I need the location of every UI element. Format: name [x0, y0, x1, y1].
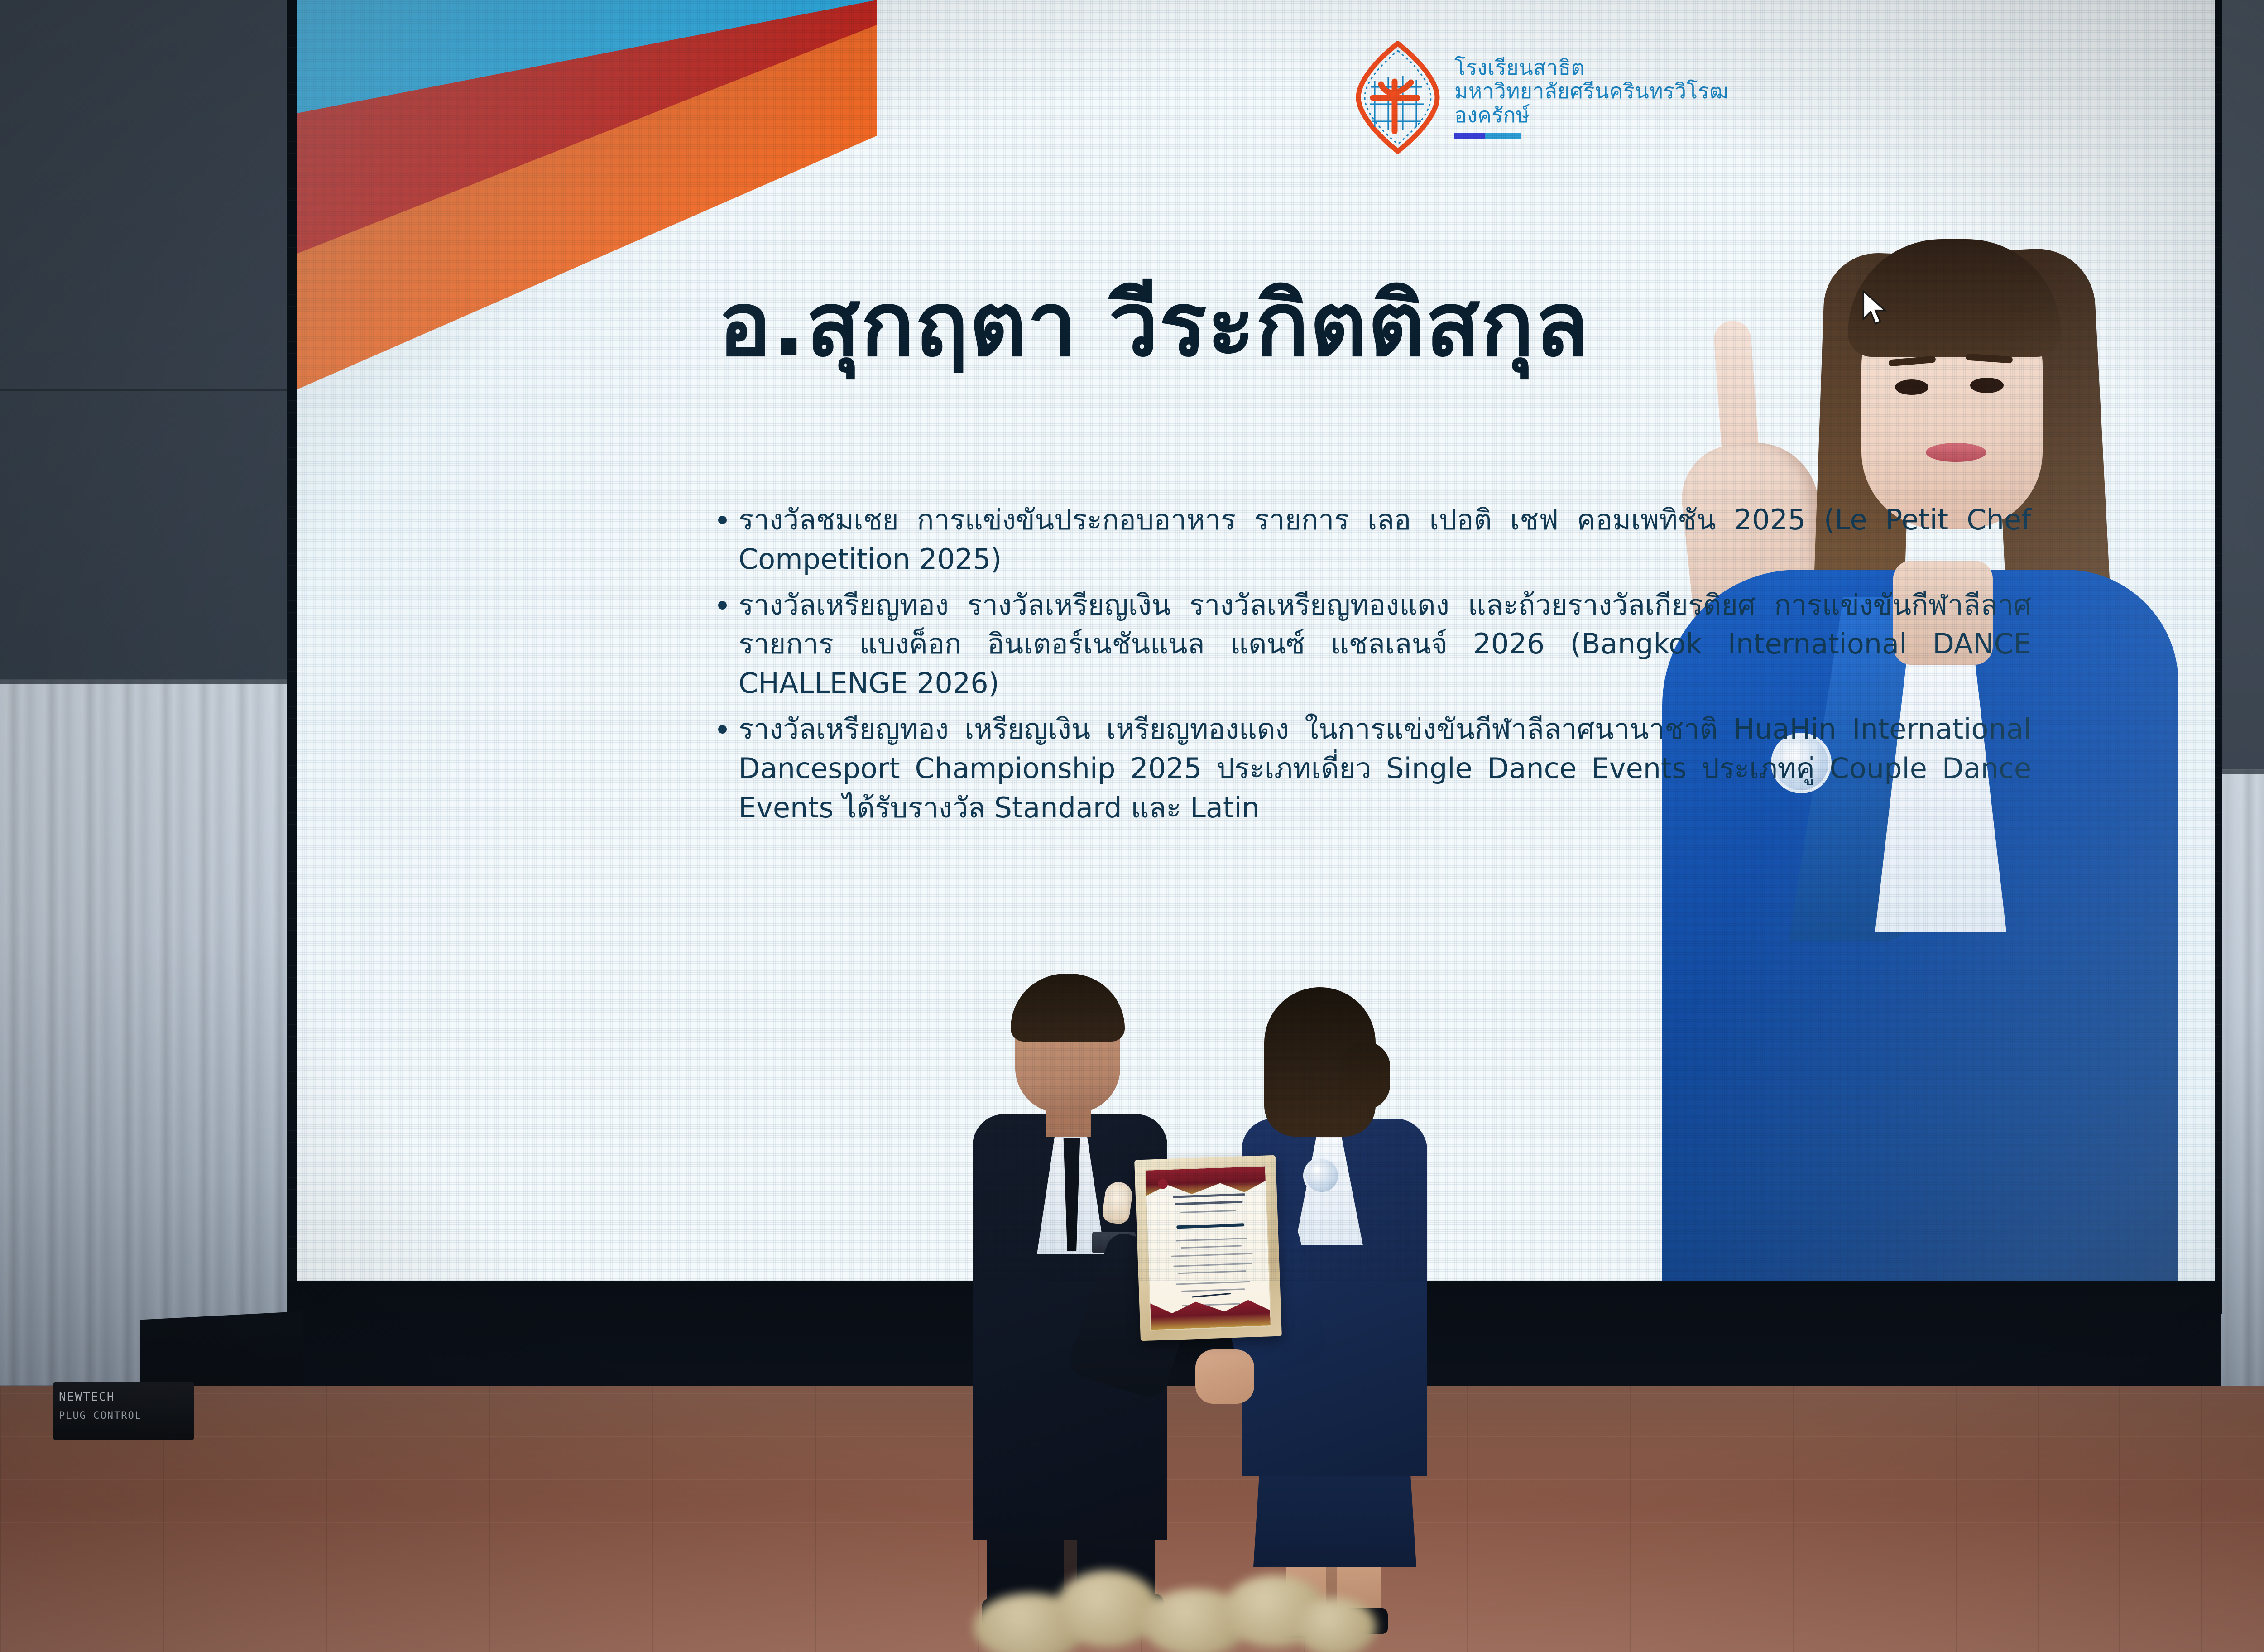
certificate-recipient-name: [1176, 1223, 1244, 1229]
swu-emblem-icon: [1353, 41, 1443, 154]
frond: [1295, 1598, 1377, 1652]
list-item: รางวัลชมเชย การแข่งขันประกอบอาหาร รายการ…: [718, 500, 2031, 579]
certificate-subline: [1180, 1210, 1236, 1213]
certificate-seal-icon: [1158, 1179, 1168, 1189]
bullet-dot-icon: [718, 725, 727, 734]
woman-crest-badge-icon: [1303, 1157, 1340, 1194]
portrait-lips: [1926, 443, 1986, 462]
list-item: รางวัลเหรียญทอง รางวัลเหรียญเงิน รางวัลเ…: [718, 586, 2031, 703]
screenshot-root: โรงเรียนสาธิต มหาวิทยาลัยศรีนครินทรวิโรฒ…: [0, 0, 2264, 1652]
portrait-eye-left: [1895, 379, 1928, 395]
certificate-body-line: [1181, 1245, 1242, 1249]
certificate-body-line: [1178, 1270, 1246, 1274]
certificate-heading-line: [1173, 1193, 1245, 1198]
award-certificate: [1134, 1155, 1282, 1341]
bullet-dot-icon: [718, 516, 727, 524]
woman-hand-lower: [1195, 1349, 1254, 1404]
list-item-text: รางวัลเหรียญทอง เหรียญเงิน เหรียญทองแดง …: [739, 710, 2031, 827]
equipment-brand-label: NEWTECH: [59, 1390, 115, 1404]
audio-equipment-rack: NEWTECH PLUG CONTROL: [53, 1382, 194, 1440]
mouse-pointer-icon: [1861, 290, 1890, 329]
left-stage-curtain: [0, 679, 317, 1386]
achievement-list: รางวัลชมเชย การแข่งขันประกอบอาหาร รายการ…: [718, 500, 2031, 834]
list-item: รางวัลเหรียญทอง เหรียญเงิน เหรียญทองแดง …: [718, 710, 2031, 827]
logo-line-3: องครักษ์: [1454, 104, 1728, 127]
presentation-slide: โรงเรียนสาธิต มหาวิทยาลัยศรีนครินทรวิโรฒ…: [297, 0, 2215, 1281]
certificate-body-line: [1171, 1253, 1253, 1257]
school-logo: โรงเรียนสาธิต มหาวิทยาลัยศรีนครินทรวิโรฒ…: [1353, 41, 1728, 154]
list-item-text: รางวัลเหรียญทอง รางวัลเหรียญเงิน รางวัลเ…: [739, 586, 2031, 703]
certificate-bottom-ornament: [1150, 1297, 1271, 1330]
logo-line-1: โรงเรียนสาธิต: [1454, 56, 1728, 79]
certificate-heading-line: [1175, 1201, 1242, 1205]
bullet-dot-icon: [718, 601, 727, 610]
certificate-body-line: [1173, 1263, 1252, 1267]
frond: [1055, 1570, 1159, 1647]
certificate-body-line: [1176, 1238, 1247, 1241]
logo-line-2: มหาวิทยาลัยศรีนครินทรวิโรฒ: [1454, 80, 1728, 103]
list-item-text: รางวัลชมเชย การแข่งขันประกอบอาหาร รายการ…: [739, 500, 2031, 579]
slide-title: อ.สุกฤตา วีระกิตติสกุล: [718, 254, 1589, 394]
foreground-foliage: [969, 1561, 1367, 1652]
equipment-model-label: PLUG CONTROL: [59, 1410, 142, 1421]
portrait-eye-right: [1970, 378, 2004, 393]
logo-underline: [1454, 133, 1521, 139]
certificate-page: [1145, 1165, 1271, 1330]
certificate-body-line: [1176, 1281, 1250, 1285]
left-curtain-rod: [0, 679, 317, 684]
woman-hair-bun: [1340, 1042, 1390, 1109]
certificate-signature: [1191, 1285, 1231, 1297]
